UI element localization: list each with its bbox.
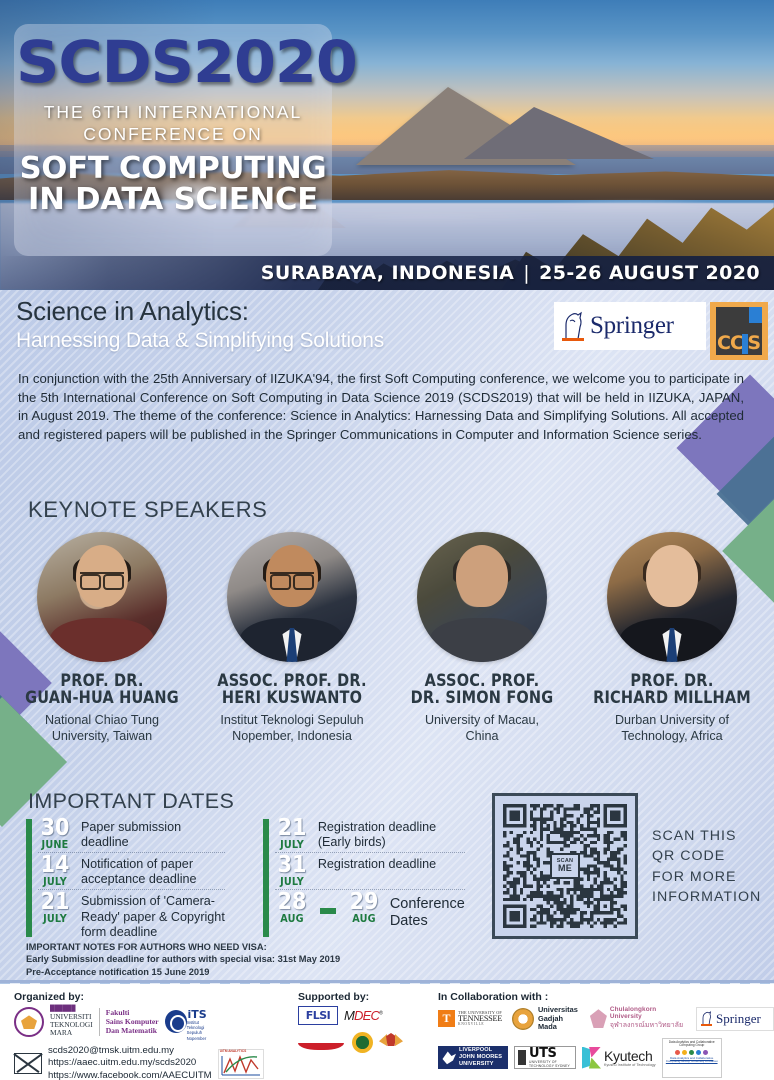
date-month: JULY <box>276 840 307 851</box>
speaker-photo <box>37 532 167 662</box>
important-dates-column-2: 21 JULY Registration deadline (Early bir… <box>263 817 465 941</box>
date-label-line-1: Notification of paper <box>81 857 197 872</box>
contact-website[interactable]: https://aaec.uitm.edu.my/scds2020 <box>48 1057 212 1070</box>
visa-notes-line-1: Early Submission deadline for authors wi… <box>26 953 340 965</box>
ccis-cc-letters: CC <box>717 332 743 354</box>
conference-subtitle: THE 6TH INTERNATIONAL CONFERENCE ON <box>22 101 324 146</box>
springer-footer-rule <box>701 1024 712 1026</box>
intro-paragraph: In conjunction with the 25th Anniversary… <box>18 370 744 445</box>
speaker-affiliation: Durban University of Technology, Africa <box>580 713 764 744</box>
dacg-title: Data Analytics and Collaborative Computi… <box>665 1041 719 1048</box>
location-text: SURABAYA, INDONESIA <box>261 262 514 284</box>
its-logo-icon: iTS Institut Teknologi Sepuluh Nopember <box>165 1007 207 1037</box>
supported-by-label: Supported by: <box>298 991 403 1003</box>
dacg-logo-icon: Data Analytics and Collaborative Computi… <box>662 1038 722 1078</box>
date-label: Registration deadline <box>318 855 436 872</box>
speaker-fullname: GUAN-HUA HUANG <box>21 689 183 706</box>
speaker-affiliation-line-2: Technology, Africa <box>580 729 764 745</box>
keynote-heading: KEYNOTE SPEAKERS <box>28 497 267 523</box>
date-label-line-1: Registration deadline <box>318 857 436 872</box>
important-dates-heading: IMPORTANT DATES <box>28 789 234 814</box>
kyutech-shape-pink <box>589 1047 601 1058</box>
speaker-body <box>50 618 154 662</box>
qr-badge-bottom: ME <box>558 864 572 873</box>
important-dates-column-1: 30 JUNE Paper submission deadline 14 JUL… <box>26 817 225 941</box>
supporter-logos-row-2: DATAMETICS <box>298 1031 403 1053</box>
date-month: JULY <box>276 877 307 888</box>
date-badge: 30 JUNE <box>38 818 72 850</box>
springer-wordmark: Springer <box>590 312 674 340</box>
speaker-fullname: DR. SIMON FONG <box>401 689 563 706</box>
theme-title: Science in Analytics: <box>16 296 384 327</box>
jata-wing-right <box>395 1034 403 1046</box>
ccis-s-letter: S <box>747 332 761 354</box>
date-month: JUNE <box>39 840 70 851</box>
date-label-line-1: Submission of 'Camera- <box>81 894 225 909</box>
date-day-end: 29 <box>349 892 380 914</box>
footer-top-strip <box>0 980 774 984</box>
speaker-face <box>456 545 508 607</box>
speaker-name: PROF. DR. GUAN-HUA HUANG <box>21 672 183 707</box>
chula-line-1: Chulalongkorn University <box>610 1006 690 1020</box>
uts-glyph <box>518 1050 526 1065</box>
ugm-line-2: Gadjah Mada <box>538 1015 584 1032</box>
faculty-line-1: Fakulti <box>106 1008 159 1017</box>
theme-tagline: Harnessing Data & Simplifying Solutions <box>16 329 384 353</box>
speaker-affiliation-line-1: National Chiao Tung <box>10 713 194 729</box>
jata-wing-left <box>379 1034 387 1046</box>
keynote-speakers-list: PROF. DR. GUAN-HUA HUANG National Chiao … <box>10 532 764 744</box>
chula-seal <box>590 1009 607 1028</box>
speaker-photo <box>227 532 357 662</box>
speaker-affiliation-line-2: Nopember, Indonesia <box>200 729 384 745</box>
speaker-affiliation-line-1: University of Macau, <box>390 713 574 729</box>
speaker-name: ASSOC. PROF. DR. HERI KUSWANTO <box>211 672 373 707</box>
tennessee-wordmark: THE UNIVERSITY OF TENNESSEE KNOXVILLE <box>458 1011 502 1027</box>
qr-code-frame[interactable]: SCAN ME <box>492 793 638 939</box>
speaker-title: ASSOC. PROF. <box>401 672 563 689</box>
tennessee-t-mark: T <box>438 1010 455 1027</box>
collaborator-logos-row-1: T THE UNIVERSITY OF TENNESSEE KNOXVILLE … <box>438 1006 774 1032</box>
speaker-fullname: RICHARD MILLHAM <box>591 689 753 706</box>
chula-line-2: จุฬาลงกรณ์มหาวิทยาลัย <box>610 1020 690 1031</box>
datametics-logo-icon: DATAMETICS <box>298 1034 346 1051</box>
uts-line-1: UTS <box>529 1047 572 1060</box>
date-label: Registration deadline (Early birds) <box>318 818 436 850</box>
contact-facebook[interactable]: https://www.facebook.com/AAECUITM <box>48 1070 212 1080</box>
date-month: AUG <box>276 914 307 925</box>
gadjah-mada-logo-icon: Universitas Gadjah Mada <box>512 1006 584 1032</box>
dacg-subtitle: Data Analytics and Collaborative Computi… <box>665 1057 719 1064</box>
publisher-logos: Springer CC S <box>554 302 768 360</box>
collaboration-label: In Collaboration with : <box>438 991 774 1003</box>
flsi-logo-icon: FLSI <box>298 1006 338 1025</box>
speaker-affiliation-line-2: University, Taiwan <box>10 729 194 745</box>
jata-negara-logo-icon <box>379 1031 403 1053</box>
ljmu-wordmark: LIVERPOOL JOHN MOORES UNIVERSITY <box>459 1047 502 1067</box>
springer-footer-wordmark: Springer <box>716 1011 761 1027</box>
visa-notes: IMPORTANT NOTES FOR AUTHORS WHO NEED VIS… <box>26 941 340 978</box>
date-row: 31 JULY Registration deadline <box>275 852 465 888</box>
contact-row: scds2020@tmsk.uitm.edu.my https://aaec.u… <box>14 1045 264 1080</box>
ccis-blue-square <box>749 307 762 323</box>
datametics-swoosh <box>298 1043 344 1050</box>
date-row: 28 AUG 29 AUG Conference Dates <box>275 889 465 931</box>
date-label: Paper submission deadline <box>81 818 181 850</box>
date-day: 21 <box>277 818 308 840</box>
datametics-wordmark: DATAMETICS <box>308 1038 334 1043</box>
date-day: 31 <box>277 855 308 877</box>
supported-by-block: Supported by: FLSI MDEC® DATAMETICS <box>298 991 403 1053</box>
date-row: 21 JULY Registration deadline (Early bir… <box>275 817 465 851</box>
speaker-affiliation-line-1: Durban University of <box>580 713 764 729</box>
speaker-card: ASSOC. PROF. DR. SIMON FONG University o… <box>390 532 574 744</box>
ccis-logo: CC S <box>710 302 768 360</box>
qr-caption: SCAN THIS QR CODE FOR MORE INFORMATION <box>652 826 761 908</box>
date-label-line-1: Paper submission <box>81 820 181 835</box>
date-month: JULY <box>39 877 70 888</box>
collaboration-block: In Collaboration with : T THE UNIVERSITY… <box>438 991 774 1078</box>
glasses-icon <box>80 572 124 585</box>
tennessee-line-3: KNOXVILLE <box>458 1023 502 1027</box>
chulalongkorn-logo-icon: Chulalongkorn University จุฬาลงกรณ์มหาวิ… <box>590 1006 690 1031</box>
speaker-affiliation-line-2: China <box>390 729 574 745</box>
footer: Organized by: ██████ UNIVERSITI TEKNOLOG… <box>0 980 774 1080</box>
date-badge: 21 JULY <box>275 818 309 850</box>
date-label-line-2: (Early birds) <box>318 835 436 850</box>
collaborator-logos-row-2: LIVERPOOL JOHN MOORES UNIVERSITY UTS UNI… <box>438 1038 774 1078</box>
aaec-chart-logo-icon: UiTM ANALYTICS <box>218 1049 264 1079</box>
speaker-title: PROF. DR. <box>21 672 183 689</box>
date-badge: 31 JULY <box>275 855 309 887</box>
mdec-logo-icon: MDEC® <box>344 1008 382 1023</box>
speaker-name: PROF. DR. RICHARD MILLHAM <box>591 672 753 707</box>
chula-wordmark: Chulalongkorn University จุฬาลงกรณ์มหาวิ… <box>610 1006 690 1031</box>
qr-scan-me-badge: SCAN ME <box>550 853 580 879</box>
subtitle-line-1: THE 6TH INTERNATIONAL <box>22 101 324 123</box>
date-label: Conference Dates <box>390 892 465 930</box>
date-label: Submission of 'Camera- Ready' paper & Co… <box>81 892 225 939</box>
speaker-card: PROF. DR. GUAN-HUA HUANG National Chiao … <box>10 532 194 744</box>
main-title-line-2: IN DATA SCIENCE <box>19 185 327 216</box>
kyutech-k-mark <box>582 1047 602 1069</box>
springer-footer-horse-icon <box>700 1010 713 1027</box>
date-day: 21 <box>40 892 71 914</box>
date-day: 14 <box>40 855 71 877</box>
springer-logo: Springer <box>554 302 706 350</box>
qr-caption-line-3: FOR MORE <box>652 867 761 887</box>
contact-details: scds2020@tmsk.uitm.edu.my https://aaec.u… <box>48 1045 212 1080</box>
jata-shield <box>386 1033 396 1046</box>
organizer-logos: ██████ UNIVERSITI TEKNOLOGI MARA Fakulti… <box>14 1006 264 1038</box>
faculty-line-3: Dan Matematik <box>106 1026 159 1035</box>
contact-email[interactable]: scds2020@tmsk.uitm.edu.my <box>48 1045 212 1058</box>
visa-notes-line-2: Pre-Acceptance notification 15 June 2019 <box>26 966 340 978</box>
uts-line-2: UNIVERSITY OF TECHNOLOGY SYDNEY <box>529 1060 572 1068</box>
speaker-card: ASSOC. PROF. DR. HERI KUSWANTO Institut … <box>200 532 384 744</box>
kyutech-line-1: Kyutech <box>604 1049 656 1063</box>
qr-caption-line-1: SCAN THIS <box>652 826 761 846</box>
speaker-photo <box>607 532 737 662</box>
speaker-name: ASSOC. PROF. DR. SIMON FONG <box>401 672 563 707</box>
organized-by-block: Organized by: ██████ UNIVERSITI TEKNOLOG… <box>14 991 264 1080</box>
speaker-affiliation: National Chiao Tung University, Taiwan <box>10 713 194 744</box>
speaker-body <box>430 618 534 662</box>
speaker-card: PROF. DR. RICHARD MILLHAM Durban Univers… <box>580 532 764 744</box>
ljmu-liver-bird-icon <box>441 1050 456 1065</box>
speaker-photo <box>417 532 547 662</box>
date-month: JULY <box>39 914 70 925</box>
springer-horse-icon <box>560 309 586 343</box>
conference-main-title: SOFT COMPUTING IN DATA SCIENCE <box>19 154 327 216</box>
conference-acronym: SCDS2020 <box>16 34 330 91</box>
uts-logo-icon: UTS UNIVERSITY OF TECHNOLOGY SYDNEY <box>514 1046 576 1069</box>
faculty-wordmark: Fakulti Sains Komputer Dan Matematik <box>99 1008 159 1036</box>
organized-by-label: Organized by: <box>14 991 264 1003</box>
theme-text-block: Science in Analytics: Harnessing Data & … <box>0 296 384 353</box>
theme-row: Science in Analytics: Harnessing Data & … <box>0 296 774 358</box>
kyutech-shape-cyan <box>582 1047 590 1069</box>
location-date-bar: SURABAYA, INDONESIA | 25-26 AUGUST 2020 <box>0 256 774 290</box>
dacg-dot-cluster <box>665 1050 719 1055</box>
glasses-icon <box>270 572 314 585</box>
faculty-line-2: Sains Komputer <box>106 1017 159 1026</box>
speaker-affiliation: Institut Teknologi Sepuluh Nopember, Ind… <box>200 713 384 744</box>
date-label: Notification of paper acceptance deadlin… <box>81 855 197 887</box>
speaker-title: PROF. DR. <box>591 672 753 689</box>
speaker-affiliation-line-1: Institut Teknologi Sepuluh <box>200 713 384 729</box>
date-label-line-2: deadline <box>81 835 181 850</box>
visa-notes-heading: IMPORTANT NOTES FOR AUTHORS WHO NEED VIS… <box>26 941 340 953</box>
kyutech-logo-icon: Kyutech Kyushu Institute of Technology <box>582 1047 656 1069</box>
date-label-line-3: form deadline <box>81 925 225 940</box>
date-badge: 28 AUG <box>275 892 309 924</box>
qr-caption-line-2: QR CODE <box>652 846 761 866</box>
ugm-seal <box>512 1008 534 1030</box>
kyutech-line-2: Kyushu Institute of Technology <box>604 1063 656 1067</box>
date-row: 30 JUNE Paper submission deadline <box>38 817 225 851</box>
date-day: 30 <box>40 818 71 840</box>
uitm-wordmark: ██████ UNIVERSITI TEKNOLOGI MARA <box>50 1006 93 1038</box>
title-card: SCDS2020 THE 6TH INTERNATIONAL CONFERENC… <box>14 24 332 256</box>
envelope-icon <box>14 1053 42 1074</box>
uitm-line-3: MARA <box>50 1029 93 1037</box>
ljmu-line-3: UNIVERSITY <box>459 1061 502 1068</box>
date-badge: 21 JULY <box>38 892 72 924</box>
ljmu-line-2: JOHN MOORES <box>459 1054 502 1061</box>
its-subtext: Institut Teknologi Sepuluh Nopember <box>187 1020 207 1041</box>
qr-caption-line-4: INFORMATION <box>652 887 761 907</box>
important-dates-columns: 30 JUNE Paper submission deadline 14 JUL… <box>26 817 465 941</box>
ugm-wordmark: Universitas Gadjah Mada <box>538 1006 584 1032</box>
date-day: 28 <box>277 892 308 914</box>
tennessee-logo-icon: T THE UNIVERSITY OF TENNESSEE KNOXVILLE <box>438 1008 506 1030</box>
date-badge-end: 29 AUG <box>347 892 381 924</box>
uitm-logo-icon <box>14 1007 44 1037</box>
date-label-line-1: Conference <box>390 896 465 913</box>
kyutech-wordmark: Kyutech Kyushu Institute of Technology <box>604 1049 656 1067</box>
date-row: 14 JULY Notification of paper acceptance… <box>38 852 225 888</box>
date-label-line-2: Ready' paper & Copyright <box>81 910 225 925</box>
kyutech-shape-green <box>589 1058 601 1069</box>
its-seal <box>165 1010 187 1033</box>
main-title-line-1: SOFT COMPUTING <box>19 154 327 185</box>
date-month-end: AUG <box>348 914 379 925</box>
date-label-line-2: Dates <box>390 913 465 930</box>
date-label-line-2: acceptance deadline <box>81 872 197 887</box>
speaker-affiliation: University of Macau, China <box>390 713 574 744</box>
date-label-line-1: Registration deadline <box>318 820 436 835</box>
conference-dates-text: 25-26 AUGUST 2020 <box>539 262 760 284</box>
speaker-fullname: HERI KUSWANTO <box>211 689 373 706</box>
uts-wordmark: UTS UNIVERSITY OF TECHNOLOGY SYDNEY <box>529 1047 572 1068</box>
speaker-title: ASSOC. PROF. DR. <box>211 672 373 689</box>
speaker-face <box>646 545 698 607</box>
hero-banner: SCDS2020 THE 6TH INTERNATIONAL CONFERENC… <box>0 0 774 290</box>
ljmu-logo-icon: LIVERPOOL JOHN MOORES UNIVERSITY <box>438 1046 508 1069</box>
ljmu-line-1: LIVERPOOL <box>459 1047 502 1054</box>
qr-code[interactable]: SCAN ME <box>503 804 627 928</box>
location-date-separator: | <box>523 262 530 284</box>
date-row: 21 JULY Submission of 'Camera- Ready' pa… <box>38 889 225 940</box>
springer-footer-logo: Springer <box>696 1007 774 1031</box>
subtitle-line-2: CONFERENCE ON <box>22 123 324 145</box>
mosti-logo-icon <box>352 1032 373 1053</box>
springer-orange-rule <box>562 338 584 341</box>
date-badge: 14 JULY <box>38 855 72 887</box>
supporter-logos-row-1: FLSI MDEC® <box>298 1006 403 1025</box>
conference-poster: SCDS2020 THE 6TH INTERNATIONAL CONFERENC… <box>0 0 774 1080</box>
date-range-dash <box>320 908 336 914</box>
